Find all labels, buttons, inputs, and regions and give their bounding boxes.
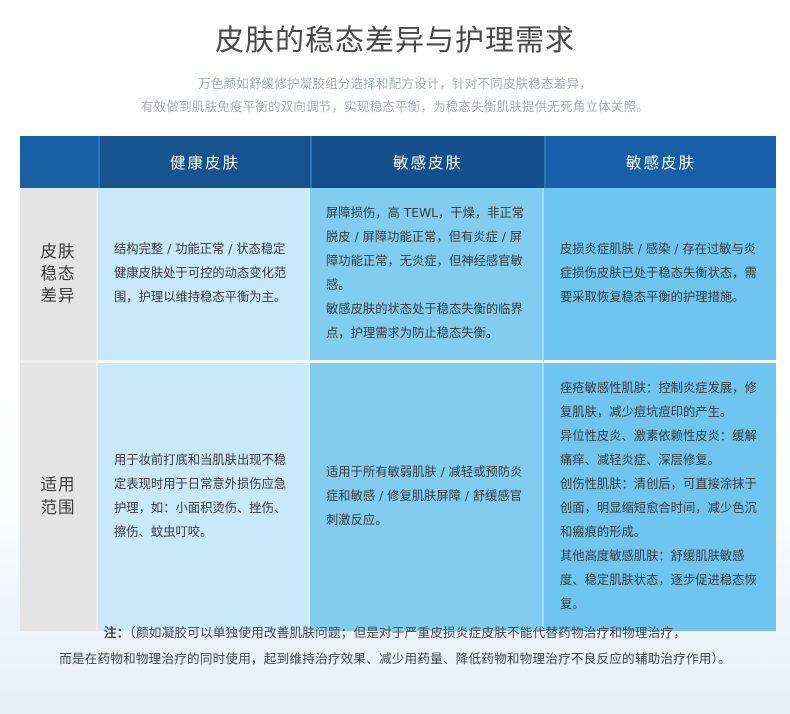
row-label-line: 差异 — [20, 285, 96, 307]
cell-homeostasis-sensitive: 屏障损伤，高 TEWL，干燥，非正常脱皮 / 屏障功能正常，但有炎症 / 屏障功… — [310, 188, 544, 363]
cell-homeostasis-damaged: 皮损炎症肌肤 / 感染 / 存在过敏与炎症损伤皮肤已处于稳态失衡状态，需要采取恢… — [544, 188, 776, 363]
cell-paragraph: 其他高度敏感肌肤：舒缓肌肤敏感度、稳定肌肤状态，逐步促进稳态恢复。 — [560, 545, 761, 617]
cell-paragraph: 痤疮敏感性肌肤：控制炎症发展，修复肌肤，减少痘坑痘印的产生。 — [560, 377, 761, 425]
cell-paragraph: 敏感皮肤的状态处于稳态失衡的临界点，护理需求为防止稳态失衡。 — [326, 298, 527, 346]
footnote-line-2: 而是在药物和物理治疗的同时使用，起到维持治疗效果、减少用药量、降低药物和物理治疗… — [0, 646, 790, 672]
subtitle-line-2: 有效做到肌肤免疫平衡的双向调节，实现稳态平衡，为稳态失衡肌肤提供无死角立体关照。 — [0, 95, 790, 118]
table-header: 健康皮肤 敏感皮肤 敏感皮肤 — [20, 136, 776, 188]
page-subtitle: 万色颜如舒缓修护凝胶组分选择和配方设计，针对不同皮肤稳态差异， 有效做到肌肤免疫… — [0, 72, 790, 118]
row-label-homeostasis-difference: 皮肤 稳态 差异 — [20, 188, 98, 363]
page-title: 皮肤的稳态差异与护理需求 — [0, 22, 790, 58]
cell-scope-sensitive: 适用于所有敏弱肌肤 / 减轻或预防炎症和敏感 / 修复肌肤屏障 / 舒缓感官刺激… — [310, 363, 544, 631]
cell-scope-healthy: 用于妆前打底和当肌肤出现不稳定表现时用于日常意外损伤应急护理，如：小面积烫伤、挫… — [98, 363, 310, 631]
row-label-line: 皮肤 — [20, 241, 96, 263]
row-label-applicable-scope: 适用 范围 — [20, 363, 98, 631]
footnote-line-1: 注：（颜如凝胶可以单独使用改善肌肤问题；但是对于严重皮损炎症皮肤不能代替药物治疗… — [0, 620, 790, 646]
row-label-line: 稳态 — [20, 263, 96, 285]
comparison-table-wrapper: 健康皮肤 敏感皮肤 敏感皮肤 皮肤 稳态 差异 结构完整 / 功能正常 / 状态… — [20, 136, 770, 631]
cell-paragraph: 健康皮肤处于可控的动态变化范围，护理以维持稳态平衡为主。 — [114, 262, 293, 310]
table-body: 皮肤 稳态 差异 结构完整 / 功能正常 / 状态稳定 健康皮肤处于可控的动态变… — [20, 188, 776, 631]
infographic-page: 皮肤的稳态差异与护理需求 万色颜如舒缓修护凝胶组分选择和配方设计，针对不同皮肤稳… — [0, 0, 790, 714]
table-header-sensitive-skin: 敏感皮肤 — [310, 136, 544, 188]
cell-homeostasis-healthy: 结构完整 / 功能正常 / 状态稳定 健康皮肤处于可控的动态变化范围，护理以维持… — [98, 188, 310, 363]
cell-paragraph: 皮损炎症肌肤 / 感染 / 存在过敏与炎症损伤皮肤已处于稳态失衡状态，需要采取恢… — [560, 238, 761, 310]
cell-paragraph: 适用于所有敏弱肌肤 / 减轻或预防炎症和敏感 / 修复肌肤屏障 / 舒缓感官刺激… — [326, 461, 527, 533]
subtitle-line-1: 万色颜如舒缓修护凝胶组分选择和配方设计，针对不同皮肤稳态差异， — [0, 72, 790, 95]
cell-paragraph: 创伤性肌肤：清创后，可直接涂抹于创面，明显缩短愈合时间，减少色沉和瘢痕的形成。 — [560, 473, 761, 545]
cell-paragraph: 用于妆前打底和当肌肤出现不稳定表现时用于日常意外损伤应急护理，如：小面积烫伤、挫… — [114, 449, 293, 545]
cell-paragraph: 异位性皮炎、激素依赖性皮炎：缓解痛痒、减轻炎症、深层修复。 — [560, 425, 761, 473]
footnote: 注：（颜如凝胶可以单独使用改善肌肤问题；但是对于严重皮损炎症皮肤不能代替药物治疗… — [0, 620, 790, 672]
row-label-line: 范围 — [20, 497, 96, 519]
row-label-line: 适用 — [20, 474, 96, 496]
cell-scope-damaged: 痤疮敏感性肌肤：控制炎症发展，修复肌肤，减少痘坑痘印的产生。 异位性皮炎、激素依… — [544, 363, 776, 631]
table-header-corner — [20, 136, 98, 188]
cell-paragraph: 屏障损伤，高 TEWL，干燥，非正常脱皮 / 屏障功能正常，但有炎症 / 屏障功… — [326, 202, 527, 298]
comparison-table: 健康皮肤 敏感皮肤 敏感皮肤 皮肤 稳态 差异 结构完整 / 功能正常 / 状态… — [20, 136, 776, 631]
footnote-prefix: 注： — [104, 625, 130, 640]
table-row: 皮肤 稳态 差异 结构完整 / 功能正常 / 状态稳定 健康皮肤处于可控的动态变… — [20, 188, 776, 363]
header-block: 皮肤的稳态差异与护理需求 万色颜如舒缓修护凝胶组分选择和配方设计，针对不同皮肤稳… — [0, 0, 790, 119]
table-header-sensitive-skin-severe: 敏感皮肤 — [544, 136, 776, 188]
table-header-healthy-skin: 健康皮肤 — [98, 136, 310, 188]
table-header-row: 健康皮肤 敏感皮肤 敏感皮肤 — [20, 136, 776, 188]
table-row: 适用 范围 用于妆前打底和当肌肤出现不稳定表现时用于日常意外损伤应急护理，如：小… — [20, 363, 776, 631]
cell-paragraph: 结构完整 / 功能正常 / 状态稳定 — [114, 238, 293, 262]
